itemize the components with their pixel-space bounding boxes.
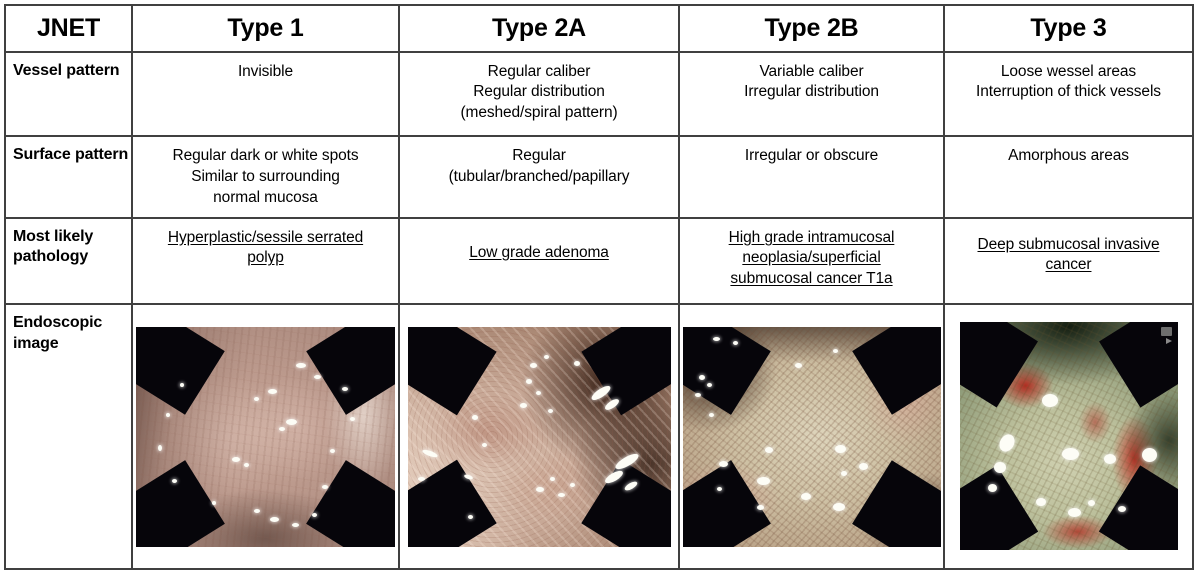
header-cell-type2b: Type 2B: [679, 5, 944, 52]
endoscopic-image-type2a: [408, 327, 671, 547]
cell-vessel-pattern-type1: Invisible: [132, 52, 399, 136]
endoscopic-image-type3: [960, 322, 1178, 550]
cell-vessel-pattern-type2a: Regular caliber Regular distribution (me…: [399, 52, 679, 136]
cell-line: Interruption of thick vessels: [951, 82, 1186, 103]
cell-line: (tubular/branched/papillary: [406, 167, 672, 188]
header-cell-type1: Type 1: [132, 5, 399, 52]
cell-line: Irregular or obscure: [686, 146, 937, 167]
cell-text: Deep submucosal invasive cancer: [945, 219, 1192, 276]
cell-text: Low grade adenoma: [400, 219, 678, 264]
endoscopic-image-type2b: [683, 327, 941, 547]
cell-line: Regular caliber: [406, 62, 672, 83]
cell-line: Loose wessel areas: [951, 62, 1186, 83]
cell-line: Deep submucosal invasive: [951, 235, 1186, 256]
row-label-vessel-pattern: Vessel pattern: [6, 53, 131, 81]
cell-pathology-type2a: Low grade adenoma: [399, 218, 679, 305]
column-header-type3: Type 3: [945, 6, 1192, 50]
cell-text: Regular dark or white spots Similar to s…: [133, 137, 398, 208]
cell-endoscopic-image-type2a: [399, 304, 679, 569]
cell-text: High grade intramucosal neoplasia/superf…: [680, 219, 943, 290]
cell-surface-pattern-type3: Amorphous areas: [944, 136, 1193, 217]
cell-pathology-type3: Deep submucosal invasive cancer: [944, 218, 1193, 305]
cell-line: Regular distribution: [406, 82, 672, 103]
cell-line: cancer: [951, 255, 1186, 276]
cell-line: Amorphous areas: [951, 146, 1186, 167]
cell-endoscopic-image-type3: [944, 304, 1193, 569]
endoscopic-image-type1: [136, 327, 395, 547]
cell-text: Irregular or obscure: [680, 137, 943, 167]
row-label-surface-pattern: Surface pattern: [6, 137, 131, 165]
cell-line: Variable caliber: [686, 62, 937, 83]
cell-line: (meshed/spiral pattern): [406, 103, 672, 124]
cell-text: Loose wessel areas Interruption of thick…: [945, 53, 1192, 103]
cell-line: Hyperplastic/sessile serrated: [139, 228, 392, 249]
jnet-classification-figure: JNET Type 1 Type 2A Type 2B Type 3 Vesse…: [0, 0, 1200, 575]
image-container-type2a: [400, 305, 678, 547]
cell-text: Variable caliber Irregular distribution: [680, 53, 943, 103]
cell-pathology-type2b: High grade intramucosal neoplasia/superf…: [679, 218, 944, 305]
row-label-line2: pattern: [66, 62, 119, 79]
cell-text: Regular caliber Regular distribution (me…: [400, 53, 678, 124]
cell-line: Invisible: [139, 62, 392, 83]
cell-text: Regular (tubular/branched/papillary: [400, 137, 678, 187]
row-label-line2: image: [13, 335, 59, 352]
row-label-cell-vessel-pattern: Vessel pattern: [5, 52, 132, 136]
cell-line: Irregular distribution: [686, 82, 937, 103]
cell-text: Amorphous areas: [945, 137, 1192, 167]
endoscope-overlay-icon: [1161, 327, 1172, 336]
row-label-cell-surface-pattern: Surface pattern: [5, 136, 132, 217]
cell-vessel-pattern-type3: Loose wessel areas Interruption of thick…: [944, 52, 1193, 136]
cell-line: neoplasia/superficial: [686, 248, 937, 269]
image-container-type3: [945, 305, 1192, 550]
cell-line: submucosal cancer T1a: [686, 269, 937, 290]
cell-line: High grade intramucosal: [686, 228, 937, 249]
cell-line: polyp: [139, 248, 392, 269]
row-label-line1: Surface: [13, 146, 71, 163]
cell-pathology-type1: Hyperplastic/sessile serrated polyp: [132, 218, 399, 305]
cell-vessel-pattern-type2b: Variable caliber Irregular distribution: [679, 52, 944, 136]
cell-surface-pattern-type1: Regular dark or white spots Similar to s…: [132, 136, 399, 217]
header-cell-type2a: Type 2A: [399, 5, 679, 52]
row-label-cell-most-likely-pathology: Most likely pathology: [5, 218, 132, 305]
row-label-line1: Most likely: [13, 228, 93, 245]
row-label-most-likely-pathology: Most likely pathology: [6, 219, 131, 268]
cell-endoscopic-image-type1: [132, 304, 399, 569]
header-cell-jnet: JNET: [5, 5, 132, 52]
row-label-line2: pathology: [13, 248, 88, 265]
image-container-type1: [133, 305, 398, 547]
cell-line: Regular: [406, 146, 672, 167]
row-label-cell-endoscopic-image: Endoscopic image: [5, 304, 132, 569]
cell-line: Low grade adenoma: [406, 243, 672, 264]
cell-line: Similar to surrounding: [139, 167, 392, 188]
image-container-type2b: [680, 305, 943, 547]
table-row-vessel-pattern: Vessel pattern Invisible Regular caliber…: [5, 52, 1193, 136]
table-row-most-likely-pathology: Most likely pathology Hyperplastic/sessi…: [5, 218, 1193, 305]
header-cell-type3: Type 3: [944, 5, 1193, 52]
cell-surface-pattern-type2a: Regular (tubular/branched/papillary: [399, 136, 679, 217]
cell-surface-pattern-type2b: Irregular or obscure: [679, 136, 944, 217]
table-header-row: JNET Type 1 Type 2A Type 2B Type 3: [5, 5, 1193, 52]
cell-endoscopic-image-type2b: [679, 304, 944, 569]
row-label-line2: pattern: [75, 146, 128, 163]
column-header-type1: Type 1: [133, 6, 398, 50]
row-label-line1: Vessel: [13, 62, 62, 79]
row-label-endoscopic-image: Endoscopic image: [6, 305, 131, 354]
cell-text: Hyperplastic/sessile serrated polyp: [133, 219, 398, 269]
cell-line: normal mucosa: [139, 188, 392, 209]
cell-text: Invisible: [133, 53, 398, 83]
column-header-type2a: Type 2A: [400, 6, 678, 50]
table-row-endoscopic-image: Endoscopic image: [5, 304, 1193, 569]
corner-label: JNET: [6, 6, 131, 50]
jnet-classification-table: JNET Type 1 Type 2A Type 2B Type 3 Vesse…: [4, 4, 1194, 570]
row-label-line1: Endoscopic: [13, 314, 102, 331]
table-row-surface-pattern: Surface pattern Regular dark or white sp…: [5, 136, 1193, 217]
cell-line: Regular dark or white spots: [139, 146, 392, 167]
column-header-type2b: Type 2B: [680, 6, 943, 50]
